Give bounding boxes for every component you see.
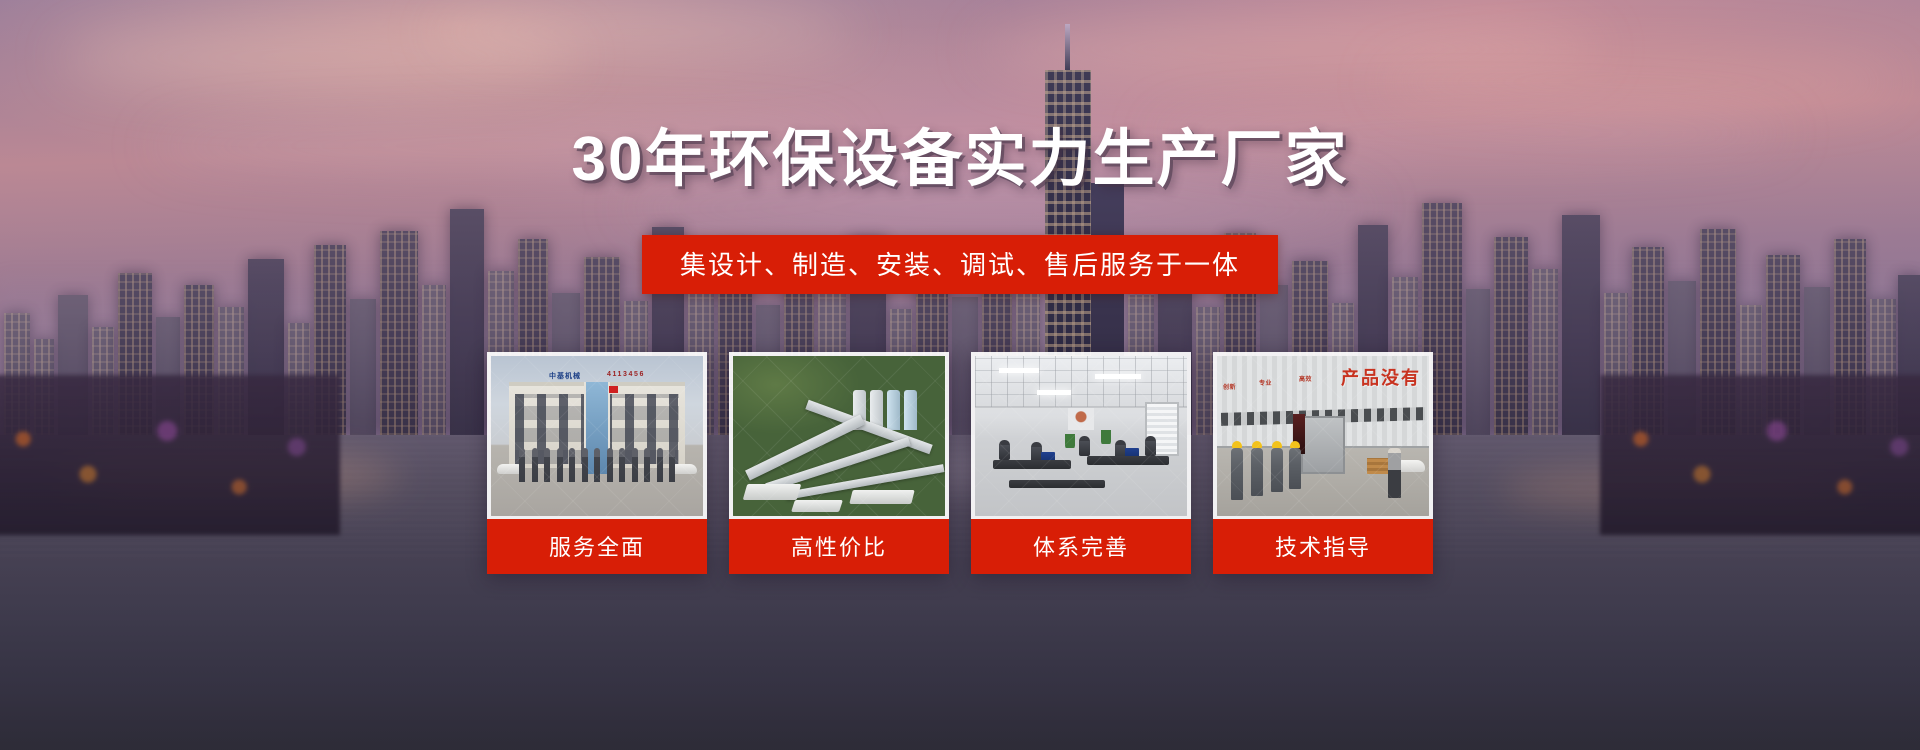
warehouse-shed	[849, 490, 914, 504]
warehouse-shed	[791, 500, 843, 512]
feature-card[interactable]: 中基机械 4113456 服务全面	[487, 352, 707, 574]
factory-banner-text: 产品没有	[1341, 364, 1421, 390]
feature-card-label: 服务全面	[487, 519, 707, 574]
feature-card-label: 高性价比	[729, 519, 949, 574]
silo	[904, 390, 917, 430]
flag-icon	[609, 386, 618, 393]
potted-plant	[1065, 434, 1075, 448]
feature-card-label: 体系完善	[971, 519, 1191, 574]
company-sign-text: 中基机械	[549, 371, 581, 381]
factory-worker	[1289, 448, 1301, 489]
office-worker	[1079, 436, 1090, 456]
office-worker	[1145, 436, 1156, 456]
stacked-lumber	[1367, 458, 1389, 474]
office-worker	[999, 440, 1010, 460]
wall-slogan-text: 专业	[1259, 378, 1272, 387]
office-ceiling	[975, 356, 1187, 408]
aerial-plant-photo	[733, 356, 945, 516]
factory-door	[1301, 416, 1345, 474]
factory-worker	[1271, 448, 1283, 492]
wall-slogan-text: 高效	[1299, 374, 1312, 383]
ceiling-light	[1095, 374, 1141, 379]
ceiling-light	[1037, 390, 1071, 395]
ceiling-light	[999, 368, 1039, 373]
staff-lineup	[519, 442, 675, 482]
building-sign: 中基机械 4113456	[491, 371, 703, 381]
factory-worker	[1231, 448, 1243, 500]
office-desk	[1087, 456, 1169, 465]
supervisor-person	[1388, 448, 1401, 498]
feature-card[interactable]: 体系完善	[971, 352, 1191, 574]
factory-worker	[1251, 448, 1263, 496]
office-desk	[1009, 480, 1105, 488]
potted-plant	[1101, 430, 1111, 444]
phone-number-text: 4113456	[607, 371, 645, 381]
wall-slogan-text: 创新	[1223, 382, 1236, 391]
company-building-photo: 中基机械 4113456	[491, 356, 703, 516]
warehouse-shed	[743, 484, 802, 500]
wall-art	[1068, 408, 1094, 430]
feature-card[interactable]: 产品没有 创新 专业 高效 技术指导	[1213, 352, 1433, 574]
factory-workers-photo: 产品没有 创新 专业 高效	[1217, 356, 1429, 516]
silo	[887, 390, 900, 430]
feature-card-list: 中基机械 4113456 服务全面	[487, 352, 1433, 574]
subtitle-badge: 集设计、制造、安装、调试、售后服务于一体	[642, 235, 1278, 294]
office-desk	[993, 460, 1071, 469]
feature-card[interactable]: 高性价比	[729, 352, 949, 574]
hero-banner: 30年环保设备实力生产厂家 集设计、制造、安装、调试、售后服务于一体 中基机械 …	[0, 0, 1920, 750]
office-interior-photo	[975, 356, 1187, 516]
feature-card-label: 技术指导	[1213, 519, 1433, 574]
page-title: 30年环保设备实力生产厂家	[0, 108, 1920, 198]
